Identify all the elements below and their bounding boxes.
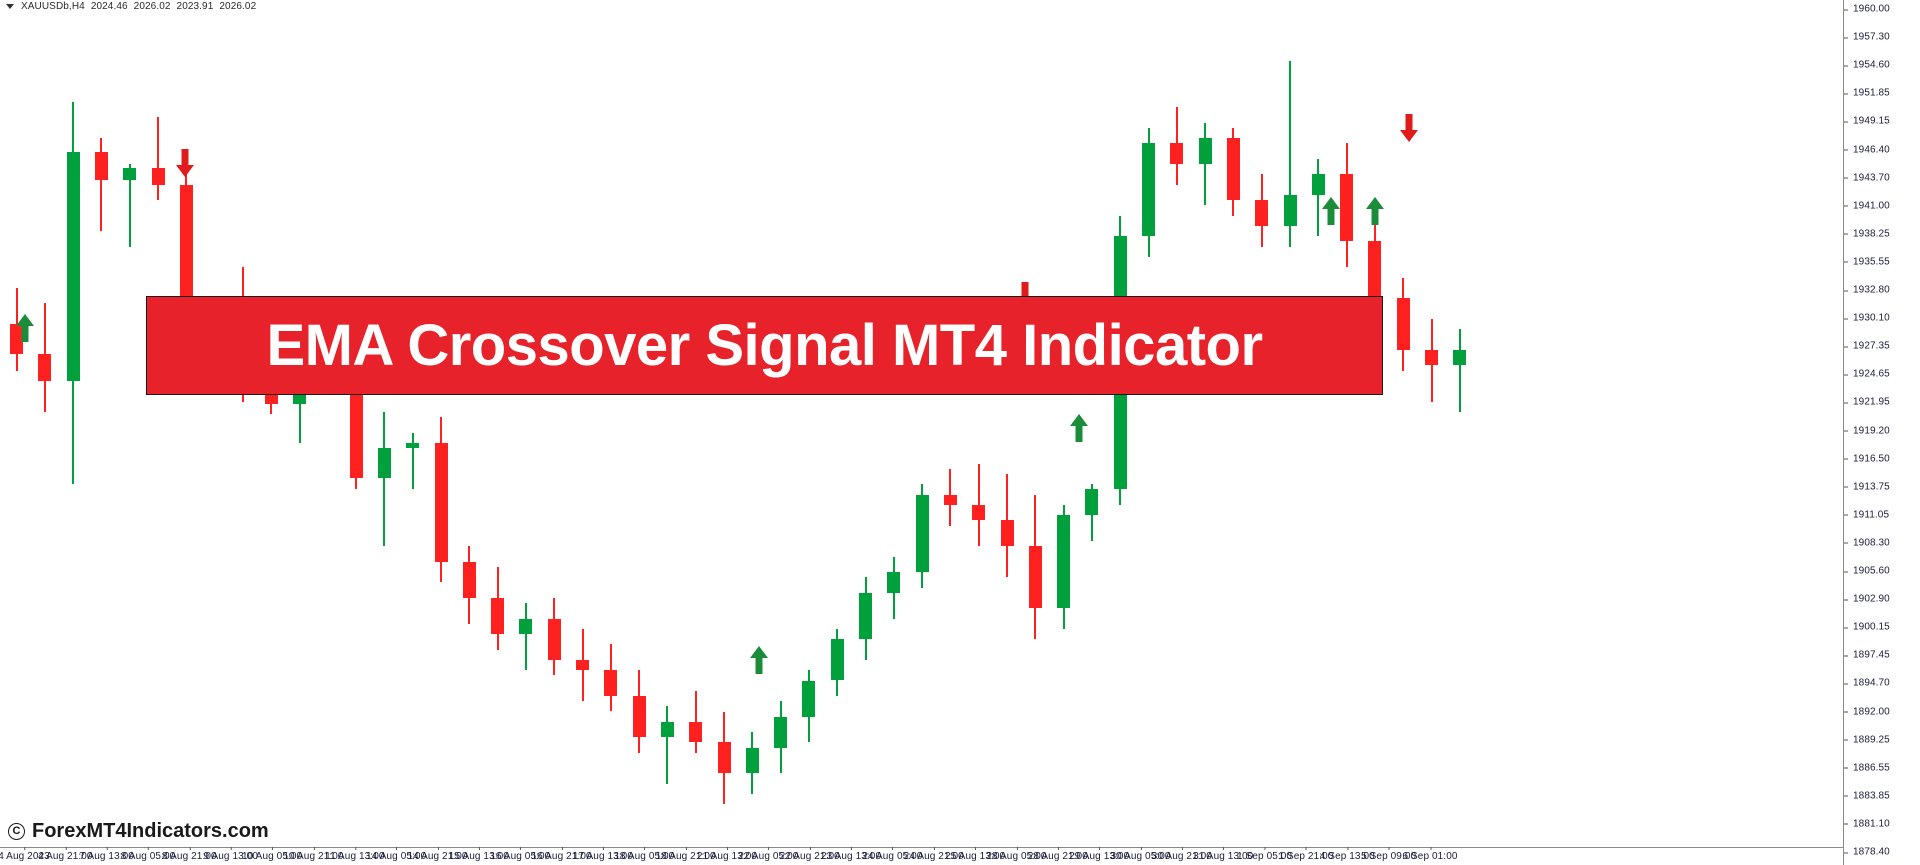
price-tick-label: 1883.85 [1844,790,1920,801]
candle-body [802,681,815,717]
buy-arrow-icon [1320,196,1342,226]
candle-body [916,495,929,572]
candlestick [123,12,136,840]
sell-arrow-icon [1398,113,1420,143]
candlestick [378,12,391,840]
candlestick [180,12,193,840]
price-tick-label: 1894.70 [1844,678,1920,689]
candlestick [802,12,815,840]
ohlc-values: 2024.46 2026.02 2023.91 2026.02 [91,1,256,12]
candle-body [1453,350,1466,365]
candle-wick [157,117,159,200]
candle-body [1368,241,1381,298]
candle-body [576,660,589,670]
candle-body [1142,143,1155,236]
candlestick [1142,12,1155,840]
candlestick [208,12,221,840]
candlestick [1312,12,1325,840]
sell-arrow-icon [174,148,196,178]
price-tick-label: 1916.50 [1844,453,1920,464]
candlestick [406,12,419,840]
price-tick-label: 1924.65 [1844,369,1920,380]
chart-header: XAUUSDb,H4 2024.46 2026.02 2023.91 2026.… [6,1,256,12]
price-tick-label: 1935.55 [1844,256,1920,267]
candle-body [887,572,900,593]
candlestick [1029,12,1042,840]
price-tick-label: 1938.25 [1844,228,1920,239]
buy-arrow-icon [748,645,770,675]
candlestick [1425,12,1438,840]
candle-body [123,168,136,180]
candlestick [972,12,985,840]
candle-wick [412,433,414,490]
candle-body [95,152,108,181]
candlestick [944,12,957,840]
candlestick [604,12,617,840]
candlestick [1284,12,1297,840]
candlestick [519,12,532,840]
candle-body [1425,350,1438,365]
candle-body [463,562,476,598]
candle-body [67,152,80,381]
ohlc-high: 2026.02 [134,1,171,12]
symbol-timeframe-label: XAUUSDb,H4 [21,1,85,12]
candlestick [1199,12,1212,840]
candle-body [859,593,872,639]
candle-body [1255,200,1268,226]
price-tick-label: 1932.80 [1844,285,1920,296]
candle-body [1170,143,1183,164]
price-tick-label: 1878.40 [1844,847,1920,858]
candle-body [972,505,985,520]
candle-body [1057,515,1070,608]
price-tick-label: 1911.05 [1844,509,1920,520]
candlestick [67,12,80,840]
candle-body [689,722,702,743]
candlestick [435,12,448,840]
time-tick-label: 6 Sep 01:00 [1402,851,1457,862]
candle-body [1227,138,1240,200]
candlestick [152,12,165,840]
price-tick-label: 1897.45 [1844,650,1920,661]
candlestick [774,12,787,840]
candle-wick [525,603,527,670]
candlestick [661,12,674,840]
candle-body [1001,520,1014,546]
price-plot-area[interactable] [0,12,1843,840]
candle-body [1029,546,1042,608]
price-tick-label: 1949.15 [1844,116,1920,127]
candle-body [1199,138,1212,164]
candlestick [1114,12,1127,840]
price-tick-label: 1889.25 [1844,734,1920,745]
candlestick [887,12,900,840]
candlestick [1227,12,1240,840]
price-tick-label: 1886.55 [1844,762,1920,773]
candle-body [831,639,844,680]
candlestick [576,12,589,840]
candlestick [38,12,51,840]
ohlc-low: 2023.91 [177,1,214,12]
candle-body [378,448,391,478]
candle-body [548,619,561,660]
candlestick [916,12,929,840]
watermark: C ForexMT4Indicators.com [8,820,269,843]
candle-body [718,742,731,773]
price-tick-label: 1927.35 [1844,341,1920,352]
chevron-down-icon[interactable] [6,4,14,9]
candle-body [1085,489,1098,515]
price-axis[interactable]: 1960.001957.301954.601951.851949.151946.… [1843,0,1920,865]
candle-body [1340,174,1353,241]
candlestick [633,12,646,840]
price-tick-label: 1946.40 [1844,144,1920,155]
buy-arrow-icon [1364,196,1386,226]
price-tick-label: 1908.30 [1844,537,1920,548]
price-tick-label: 1902.90 [1844,594,1920,605]
price-tick-label: 1957.30 [1844,32,1920,43]
price-tick-label: 1943.70 [1844,172,1920,183]
price-tick-label: 1921.95 [1844,397,1920,408]
candle-wick [1317,159,1319,236]
indicator-title-banner: EMA Crossover Signal MT4 Indicator [146,296,1383,395]
candle-body [633,696,646,737]
candlestick [10,12,23,840]
ohlc-open: 2024.46 [91,1,128,12]
time-axis[interactable]: 4 Aug 20234 Aug 21:007 Aug 13:008 Aug 05… [0,847,1843,865]
candlestick [321,12,334,840]
candle-body [1397,298,1410,350]
candlestick [1453,12,1466,840]
candle-body [944,495,957,505]
candle-body [519,619,532,634]
candlestick [1340,12,1353,840]
candle-body [38,354,51,381]
candle-wick [1204,123,1206,206]
buy-arrow-icon [1068,413,1090,443]
candle-body [774,717,787,748]
candlestick [746,12,759,840]
candlestick [491,12,504,840]
price-tick-label: 1892.00 [1844,706,1920,717]
candle-body [491,598,504,634]
candlestick [859,12,872,840]
candle-body [604,670,617,696]
price-tick-label: 1913.75 [1844,481,1920,492]
price-tick-label: 1900.15 [1844,622,1920,633]
candle-wick [1459,329,1461,412]
price-tick-label: 1881.10 [1844,818,1920,829]
candlestick [689,12,702,840]
price-tick-label: 1951.85 [1844,88,1920,99]
candle-body [406,443,419,448]
price-tick-label: 1960.00 [1844,4,1920,15]
price-tick-label: 1941.00 [1844,200,1920,211]
buy-arrow-icon [14,313,36,343]
price-tick-label: 1919.20 [1844,425,1920,436]
candle-body [661,722,674,737]
candlestick [463,12,476,840]
ohlc-close: 2026.02 [219,1,256,12]
watermark-text: ForexMT4Indicators.com [32,820,269,843]
price-tick-label: 1954.60 [1844,60,1920,71]
candlestick [1170,12,1183,840]
candle-body [746,748,759,774]
candle-wick [666,706,668,783]
candlestick [1368,12,1381,840]
candlestick [265,12,278,840]
mt4-chart-window: XAUUSDb,H4 2024.46 2026.02 2023.91 2026.… [0,0,1920,865]
indicator-title-text: EMA Crossover Signal MT4 Indicator [266,312,1262,379]
candle-body [152,168,165,185]
candlestick [718,12,731,840]
candlestick [831,12,844,840]
candlestick [1001,12,1014,840]
candle-body [1284,195,1297,226]
price-tick-label: 1930.10 [1844,313,1920,324]
candlestick [293,12,306,840]
candlestick [95,12,108,840]
candle-body [435,443,448,562]
candlestick [1255,12,1268,840]
copyright-icon: C [8,823,25,840]
candlestick [548,12,561,840]
candlestick [350,12,363,840]
price-tick-label: 1905.60 [1844,566,1920,577]
candle-wick [383,412,385,546]
candlestick [236,12,249,840]
candle-body [1312,174,1325,195]
